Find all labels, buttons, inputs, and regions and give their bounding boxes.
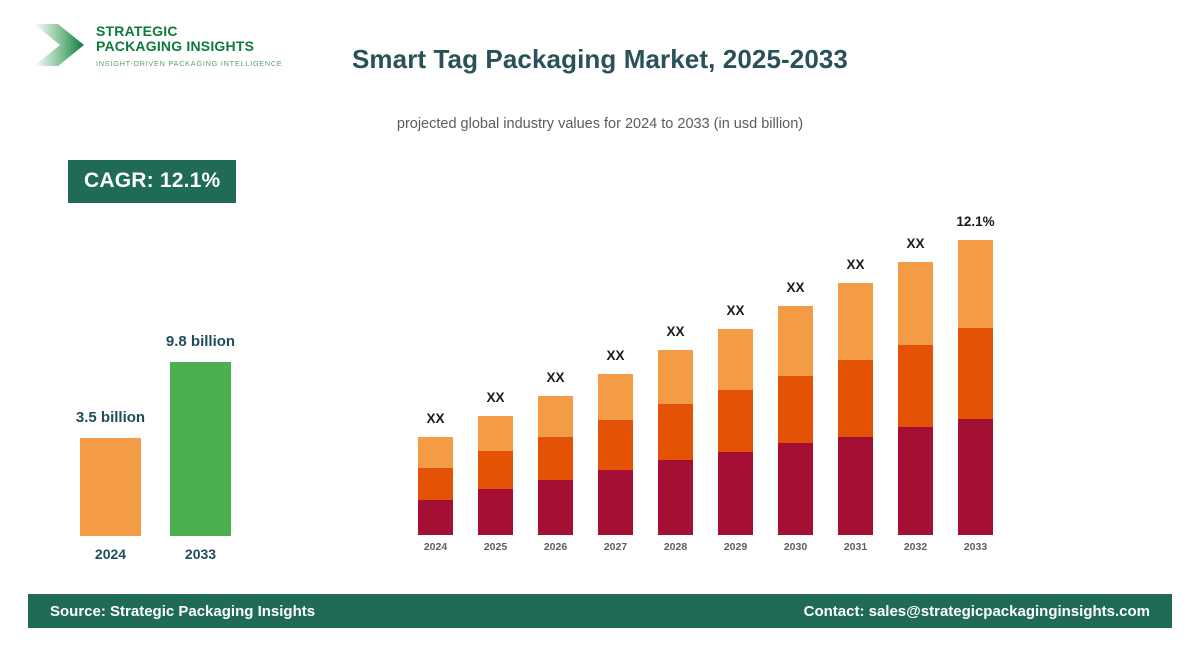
stacked-bar-segment-2029-2 [718,390,753,452]
forecast-stacked-bar-chart: XX2024XX2025XX2026XX2027XX2028XX2029XX20… [0,0,1200,650]
stacked-bar-segment-2024-2 [418,468,453,500]
stacked-bar-segment-2026-3 [538,480,573,535]
stacked-bar-segment-2026-2 [538,437,573,480]
stacked-bar-segment-2031-3 [838,437,873,535]
stacked-bar-label-2028: XX [633,324,718,339]
footer-source: Source: Strategic Packaging Insights [50,603,315,620]
stacked-bar-segment-2032-3 [898,427,933,535]
stacked-bar-segment-2031-2 [838,360,873,437]
stacked-bar-segment-2032-2 [898,345,933,427]
stacked-bar-segment-2030-2 [778,376,813,443]
stacked-bar-segment-2027-3 [598,470,633,535]
stacked-bar-segment-2030-1 [778,306,813,376]
stacked-bar-segment-2032-1 [898,262,933,345]
stacked-bar-segment-2033-3 [958,419,993,535]
stacked-bar-segment-2033-2 [958,328,993,419]
stacked-bar-segment-2031-1 [838,283,873,360]
stacked-bar-segment-2025-1 [478,416,513,451]
stacked-bar-label-2027: XX [573,348,658,363]
stacked-bar-label-2024: XX [393,411,478,426]
stacked-bar-category-2033: 2033 [933,541,1018,553]
chart-canvas: STRATEGIC PACKAGING INSIGHTS INSIGHT-DRI… [0,0,1200,650]
footer-contact: Contact: sales@strategicpackaginginsight… [804,603,1150,620]
stacked-bar-segment-2028-3 [658,460,693,535]
stacked-bar-segment-2033-1 [958,240,993,328]
stacked-bar-segment-2025-2 [478,451,513,489]
stacked-bar-segment-2025-3 [478,489,513,535]
stacked-bar-segment-2027-2 [598,420,633,470]
stacked-bar-segment-2024-1 [418,437,453,468]
stacked-bar-label-2031: XX [813,257,898,272]
stacked-bar-segment-2029-3 [718,452,753,535]
stacked-bar-label-2030: XX [753,280,838,295]
stacked-bar-label-2029: XX [693,303,778,318]
stacked-bar-label-2033: 12.1% [933,214,1018,229]
stacked-bar-segment-2028-2 [658,404,693,460]
stacked-bar-label-2025: XX [453,390,538,405]
stacked-bar-label-2032: XX [873,236,958,251]
stacked-bar-segment-2026-1 [538,396,573,437]
footer-bar: Source: Strategic Packaging Insights Con… [28,594,1172,628]
stacked-bar-segment-2028-1 [658,350,693,404]
stacked-bar-label-2026: XX [513,370,598,385]
stacked-bar-segment-2027-1 [598,374,633,420]
stacked-bar-segment-2024-3 [418,500,453,535]
stacked-bar-segment-2029-1 [718,329,753,390]
stacked-bar-segment-2030-3 [778,443,813,535]
